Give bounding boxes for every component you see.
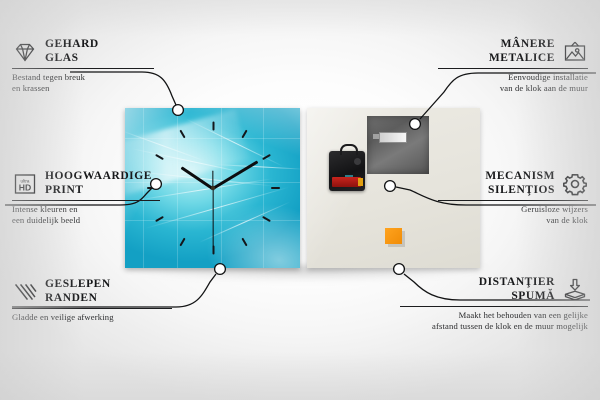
feature-rule <box>12 308 172 309</box>
feature-title: HOOGWAARDIGE PRINT <box>45 170 152 197</box>
clock-second-hand <box>212 189 213 247</box>
infographic-canvas: GEHARD GLAS Bestand tegen breuk en krass… <box>0 0 600 400</box>
feature-rule <box>438 200 588 201</box>
feature-title: MECANISM SILENŢIOS <box>485 170 555 197</box>
clock-tick-6 <box>212 246 214 255</box>
feature-description: Gladde en veilige afwerking <box>12 312 172 323</box>
feature-rule <box>12 200 160 201</box>
feature-rule <box>438 68 588 69</box>
feature-description: Maakt het behouden van een gelijke afsta… <box>400 310 588 331</box>
feature-rule <box>12 68 154 69</box>
feature-title: MÂNERE METALICE <box>489 38 555 65</box>
diamond-icon <box>12 40 38 64</box>
clock-tick-12 <box>212 122 214 131</box>
feature-hoogwaardige-print: ultra HD HOOGWAARDIGE PRINT Intense kleu… <box>12 170 160 225</box>
gear-icon <box>562 172 588 196</box>
foam-spacer-pad <box>385 228 402 244</box>
metal-hanger-plate <box>367 116 429 174</box>
feature-description: Eenvoudige installatie van de klok aan d… <box>438 72 588 93</box>
feature-title: GESLEPEN RANDEN <box>45 278 111 305</box>
bevelled-edges-icon <box>12 280 38 304</box>
feature-description: Bestand tegen breuk en krassen <box>12 72 154 93</box>
feature-geslepen-randen: GESLEPEN RANDEN Gladde en veilige afwerk… <box>12 278 172 323</box>
feature-gehard-glas: GEHARD GLAS Bestand tegen breuk en krass… <box>12 38 154 93</box>
feature-distantier-spuma: DISTANŢIER SPUMĂ Maakt het behouden van … <box>400 276 588 331</box>
picture-frame-icon <box>562 40 588 64</box>
clock-center-pivot <box>211 186 215 190</box>
feature-mecanism-silentios: MECANISM SILENŢIOS Geruisloze wijzers va… <box>438 170 588 225</box>
svg-text:HD: HD <box>19 182 31 192</box>
ultra-hd-icon: ultra HD <box>12 172 38 196</box>
product-image-group <box>125 108 480 268</box>
feature-title: GEHARD GLAS <box>45 38 99 65</box>
quartz-mechanism <box>329 151 365 191</box>
feature-description: Intense kleuren en een duidelijk beeld <box>12 204 160 225</box>
foam-spacer-icon <box>562 278 588 302</box>
feature-rule <box>400 306 588 307</box>
feature-title: DISTANŢIER SPUMĂ <box>479 276 555 303</box>
feature-manere-metalice: MÂNERE METALICE Eenvoudige installatie v… <box>438 38 588 93</box>
feature-description: Geruisloze wijzers van de klok <box>438 204 588 225</box>
clock-tick-3 <box>271 187 280 189</box>
